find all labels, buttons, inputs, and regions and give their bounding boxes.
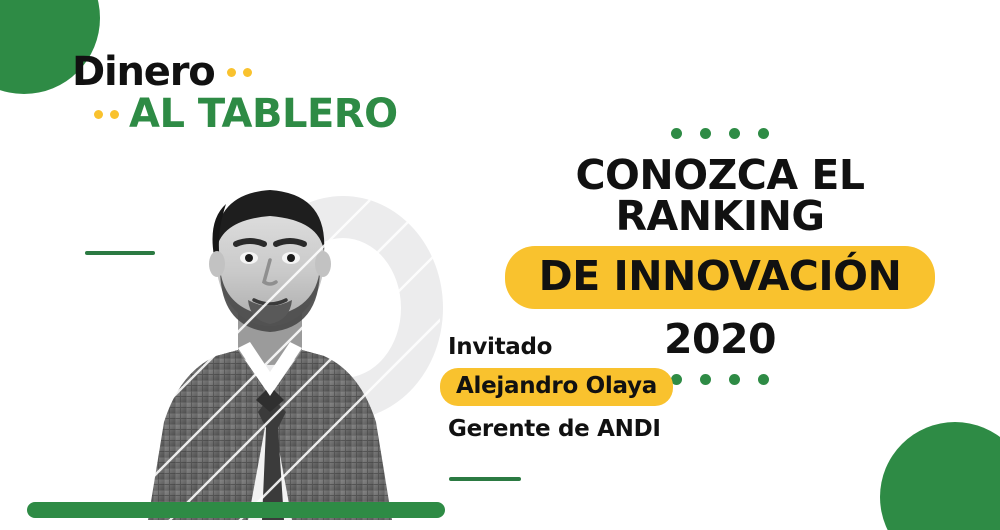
headline-pill: DE INNOVACIÓN bbox=[505, 246, 936, 309]
yellow-dot-icon bbox=[110, 110, 119, 119]
decorative-bottom-bar bbox=[27, 502, 445, 518]
yellow-dot-icon bbox=[94, 110, 103, 119]
guest-block: Invitado Alejandro Olaya Gerente de ANDI bbox=[448, 336, 768, 441]
dot-strip-top bbox=[470, 128, 970, 139]
green-dot-icon bbox=[700, 128, 711, 139]
logo-word-al-tablero: AL TABLERO bbox=[129, 94, 398, 134]
green-dot-icon bbox=[729, 128, 740, 139]
logo-dots-right bbox=[227, 68, 252, 77]
green-dot-icon bbox=[671, 128, 682, 139]
guest-role: Gerente de ANDI bbox=[448, 418, 768, 441]
logo-dots-left bbox=[94, 110, 119, 119]
headline-line-2: DE INNOVACIÓN bbox=[539, 252, 902, 300]
logo-word-dinero: Dinero bbox=[72, 52, 215, 92]
decorative-circle-bottom-right bbox=[880, 422, 1000, 530]
guest-name: Alejandro Olaya bbox=[456, 373, 657, 399]
portrait-illustration bbox=[120, 160, 440, 520]
decorative-dash-right bbox=[449, 477, 521, 481]
guest-name-pill: Alejandro Olaya bbox=[440, 368, 673, 406]
headline-line-1: CONOZCA EL RANKING bbox=[470, 155, 970, 237]
yellow-dot-icon bbox=[227, 68, 236, 77]
yellow-dot-icon bbox=[243, 68, 252, 77]
promo-banner: Dinero AL TABLERO bbox=[0, 0, 1000, 530]
green-dot-icon bbox=[758, 128, 769, 139]
guest-portrait bbox=[120, 160, 440, 520]
guest-label: Invitado bbox=[448, 336, 768, 359]
brand-logo: Dinero AL TABLERO bbox=[72, 52, 402, 134]
